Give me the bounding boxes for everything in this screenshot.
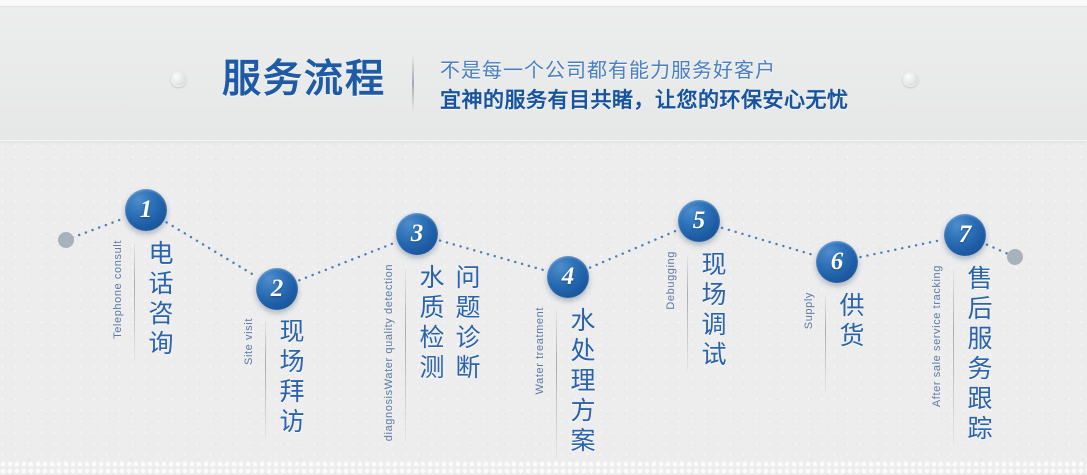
subtitle-line-1: 不是每一个公司都有能力服务好客户 [440, 57, 849, 86]
connector-dotted-line [987, 245, 1009, 255]
step-label-cn-group-6: 供货 [835, 292, 865, 352]
flow-endpoint-dot [58, 232, 74, 248]
step-label-cn-5: 现场调试 [697, 251, 727, 371]
step-label-divider-3 [405, 268, 406, 443]
flow-endpoint-dot [1007, 249, 1023, 265]
connector-dotted-line [299, 243, 394, 280]
step-label-cn-1: 电话咨询 [144, 240, 174, 360]
page-title: 服务流程 [222, 53, 386, 107]
step-label-cn-group-3: 水质检测问题诊断 [415, 264, 481, 384]
step-number-badge-7[interactable]: 7 [944, 214, 986, 256]
step-number-badge-6[interactable]: 6 [816, 241, 858, 283]
step-label-cn-7: 售后服务跟踪 [963, 265, 993, 445]
step-label-divider-4 [556, 311, 557, 457]
step-label-group-6: Supply供货 [803, 292, 865, 392]
step-label-en-3: diagnosisWater quality detection [383, 264, 396, 443]
connector-dotted-line [73, 218, 124, 237]
rivet-left-icon [171, 72, 186, 87]
step-label-group-7: After sale service tracking售后服务跟踪 [931, 265, 993, 445]
step-label-en-5: Debugging [665, 251, 678, 312]
step-label-en-2: Site visit [243, 318, 256, 367]
step-number-badge-5[interactable]: 5 [678, 200, 720, 242]
connector-dotted-line [590, 230, 677, 267]
step-label-cn-2: 现场拜访 [275, 318, 305, 438]
step-label-cn-group-4: 水处理方案 [566, 307, 596, 457]
step-label-cn-3: 问题诊断 [451, 264, 481, 384]
step-label-cn-4: 水处理方案 [566, 307, 596, 457]
step-label-group-1: Telephone consult电话咨询 [112, 240, 174, 360]
step-label-divider-7 [953, 269, 954, 445]
step-number-badge-3[interactable]: 3 [396, 213, 438, 255]
step-label-group-4: Water treatment水处理方案 [534, 307, 596, 457]
header-divider [412, 55, 414, 111]
header-plate: 服务流程 不是每一个公司都有能力服务好客户 宜神的服务有目共睹，让您的环保安心无… [0, 7, 1087, 140]
service-process-banner: 服务流程 不是每一个公司都有能力服务好客户 宜神的服务有目共睹，让您的环保安心无… [0, 0, 1087, 475]
step-label-en-7: After sale service tracking [931, 265, 944, 409]
process-flow: 1Telephone consult电话咨询2Site visit现场拜访3di… [0, 140, 1087, 475]
connector-dotted-line [722, 228, 814, 255]
step-label-group-5: Debugging现场调试 [665, 251, 727, 371]
connector-dotted-line [167, 222, 257, 276]
step-label-en-4: Water treatment [534, 307, 547, 396]
subtitle-line-2: 宜神的服务有目共睹，让您的环保安心无忧 [440, 86, 849, 116]
step-label-divider-5 [687, 255, 688, 371]
step-label-divider-6 [825, 296, 826, 392]
step-number-badge-2[interactable]: 2 [256, 268, 298, 310]
step-label-group-3: diagnosisWater quality detection水质检测问题诊断 [383, 264, 481, 443]
step-label-en-line2-3: diagnosis [383, 389, 396, 441]
step-label-cn-6: 供货 [835, 292, 865, 352]
connector-dotted-line [860, 240, 941, 257]
step-label-en-6: Supply [803, 292, 816, 331]
step-label-divider-2 [265, 322, 266, 438]
step-number-badge-1[interactable]: 1 [125, 189, 167, 231]
step-label-en-1: Telephone consult [112, 240, 125, 341]
step-label-cn-group-5: 现场调试 [697, 251, 727, 371]
step-number-badge-4[interactable]: 4 [547, 256, 589, 298]
header-content: 服务流程 不是每一个公司都有能力服务好客户 宜神的服务有目共睹，让您的环保安心无… [222, 53, 849, 116]
rivet-right-icon [903, 72, 918, 87]
step-label-cn-group-2: 现场拜访 [275, 318, 305, 438]
header-subtitle-group: 不是每一个公司都有能力服务好客户 宜神的服务有目共睹，让您的环保安心无忧 [440, 53, 849, 116]
step-label-cn-group-1: 电话咨询 [144, 240, 174, 360]
step-label-cn-secondary-3: 水质检测 [415, 264, 445, 384]
step-label-cn-group-7: 售后服务跟踪 [963, 265, 993, 445]
step-label-group-2: Site visit现场拜访 [243, 318, 305, 438]
top-edge-strip [0, 0, 1087, 7]
step-label-divider-1 [134, 244, 135, 360]
step-label-en-line1-3: Water quality detection [383, 264, 396, 389]
